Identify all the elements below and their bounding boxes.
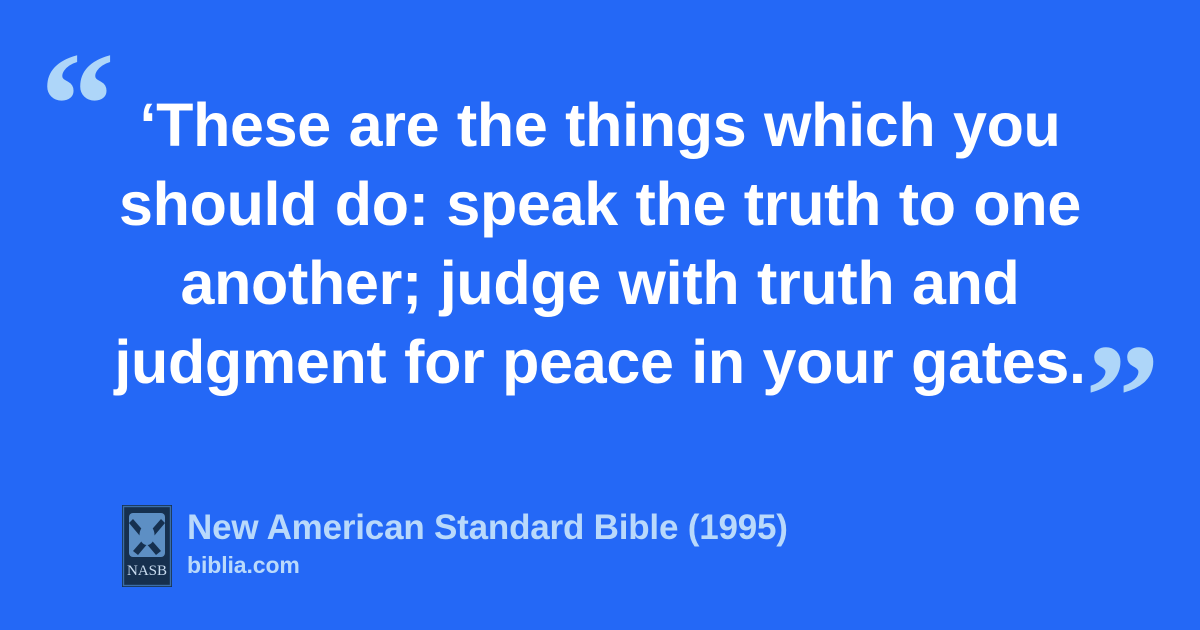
nasb-logo-label: NASB bbox=[127, 563, 167, 579]
attribution-block: New American Standard Bible (1995) bibli… bbox=[187, 505, 788, 580]
quote-text: ‘These are the things which you should d… bbox=[95, 86, 1105, 402]
close-quote-icon: ” bbox=[1085, 322, 1160, 472]
source-site-label[interactable]: biblia.com bbox=[187, 550, 788, 580]
nasb-logo-icon: NASB bbox=[122, 505, 172, 587]
bible-version-label: New American Standard Bible (1995) bbox=[187, 506, 788, 550]
attribution-footer: NASB New American Standard Bible (1995) … bbox=[122, 505, 788, 587]
quote-card: “ ‘These are the things which you should… bbox=[0, 0, 1200, 630]
quote-area: “ ‘These are the things which you should… bbox=[0, 0, 1200, 440]
